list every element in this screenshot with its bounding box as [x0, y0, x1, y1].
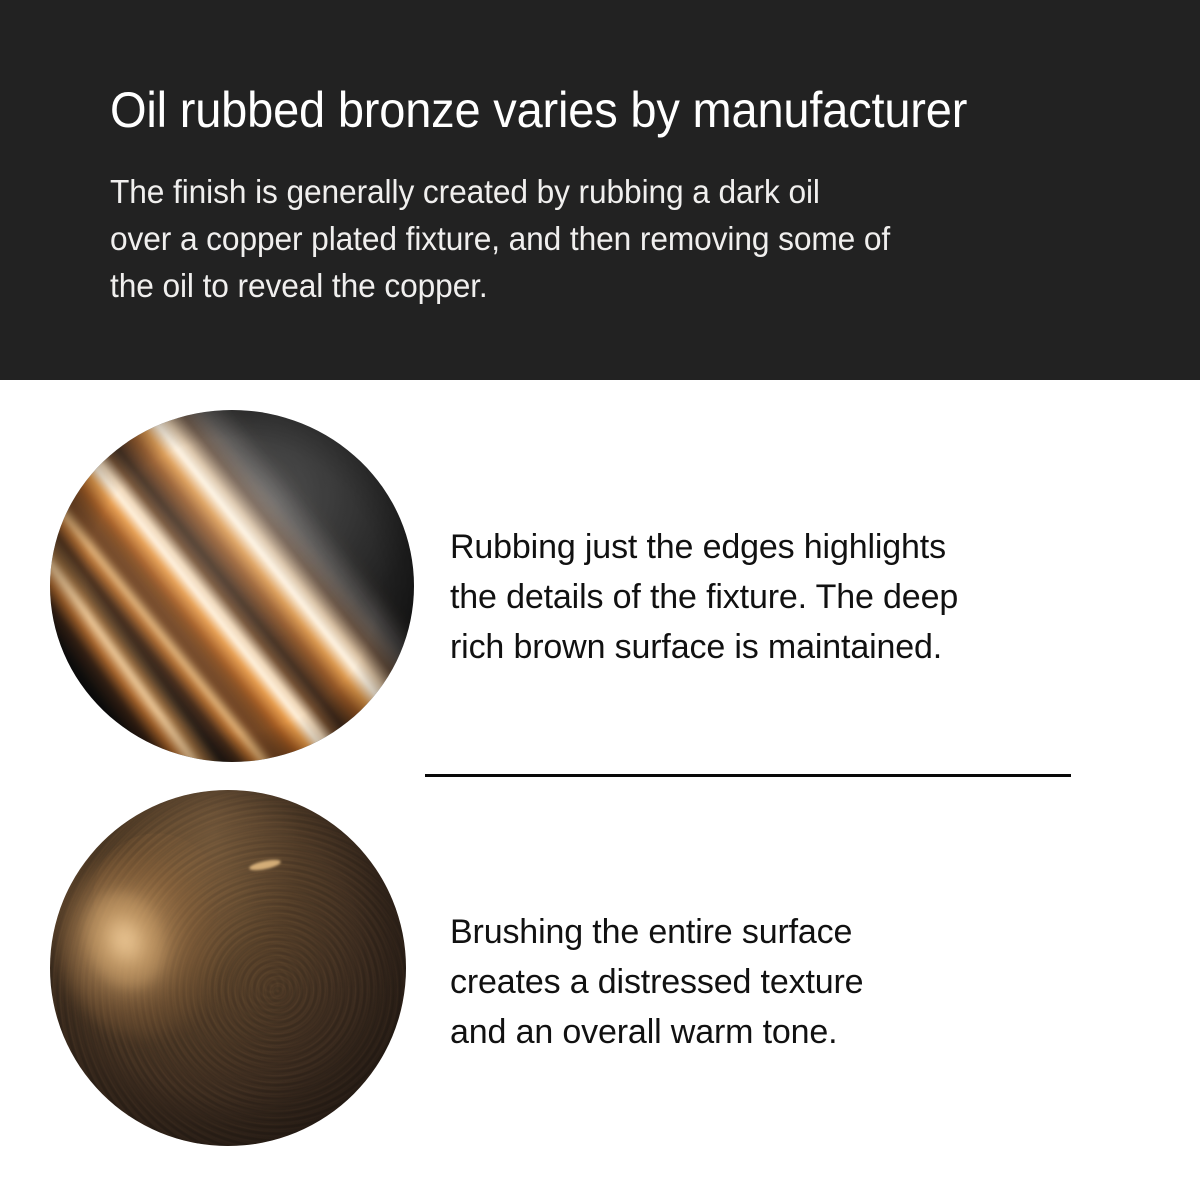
header-description-line-2: over a copper plated fixture, and then r… [110, 215, 1051, 262]
caption-fully-brushed-line-3: and an overall warm tone. [450, 1007, 863, 1057]
sphere-vignette [50, 790, 406, 1146]
caption-fully-brushed: Brushing the entire surface creates a di… [450, 907, 863, 1057]
content-area: Rubbing just the edges highlights the de… [0, 380, 1200, 1200]
section-divider [425, 774, 1071, 777]
infographic-poster: Oil rubbed bronze varies by manufacturer… [0, 0, 1200, 1200]
caption-fully-brushed-line-2: creates a distressed texture [450, 957, 863, 1007]
header-description-line-1: The finish is generally created by rubbi… [110, 168, 1051, 215]
caption-edge-rubbed-line-2: the details of the fixture. The deep [450, 572, 958, 622]
brushed-warm-bronze-swatch [50, 790, 406, 1146]
caption-fully-brushed-line-1: Brushing the entire surface [450, 907, 863, 957]
header-band: Oil rubbed bronze varies by manufacturer… [0, 0, 1200, 380]
glossy-black-copper-edge-swatch [50, 410, 414, 762]
header-description: The finish is generally created by rubbi… [110, 168, 1051, 309]
caption-edge-rubbed-line-1: Rubbing just the edges highlights [450, 522, 958, 572]
caption-edge-rubbed: Rubbing just the edges highlights the de… [450, 522, 958, 672]
header-description-line-3: the oil to reveal the copper. [110, 262, 1051, 309]
page-title: Oil rubbed bronze varies by manufacturer [110, 82, 1069, 138]
sphere-gloss-rim [50, 410, 414, 762]
caption-edge-rubbed-line-3: rich brown surface is maintained. [450, 622, 958, 672]
